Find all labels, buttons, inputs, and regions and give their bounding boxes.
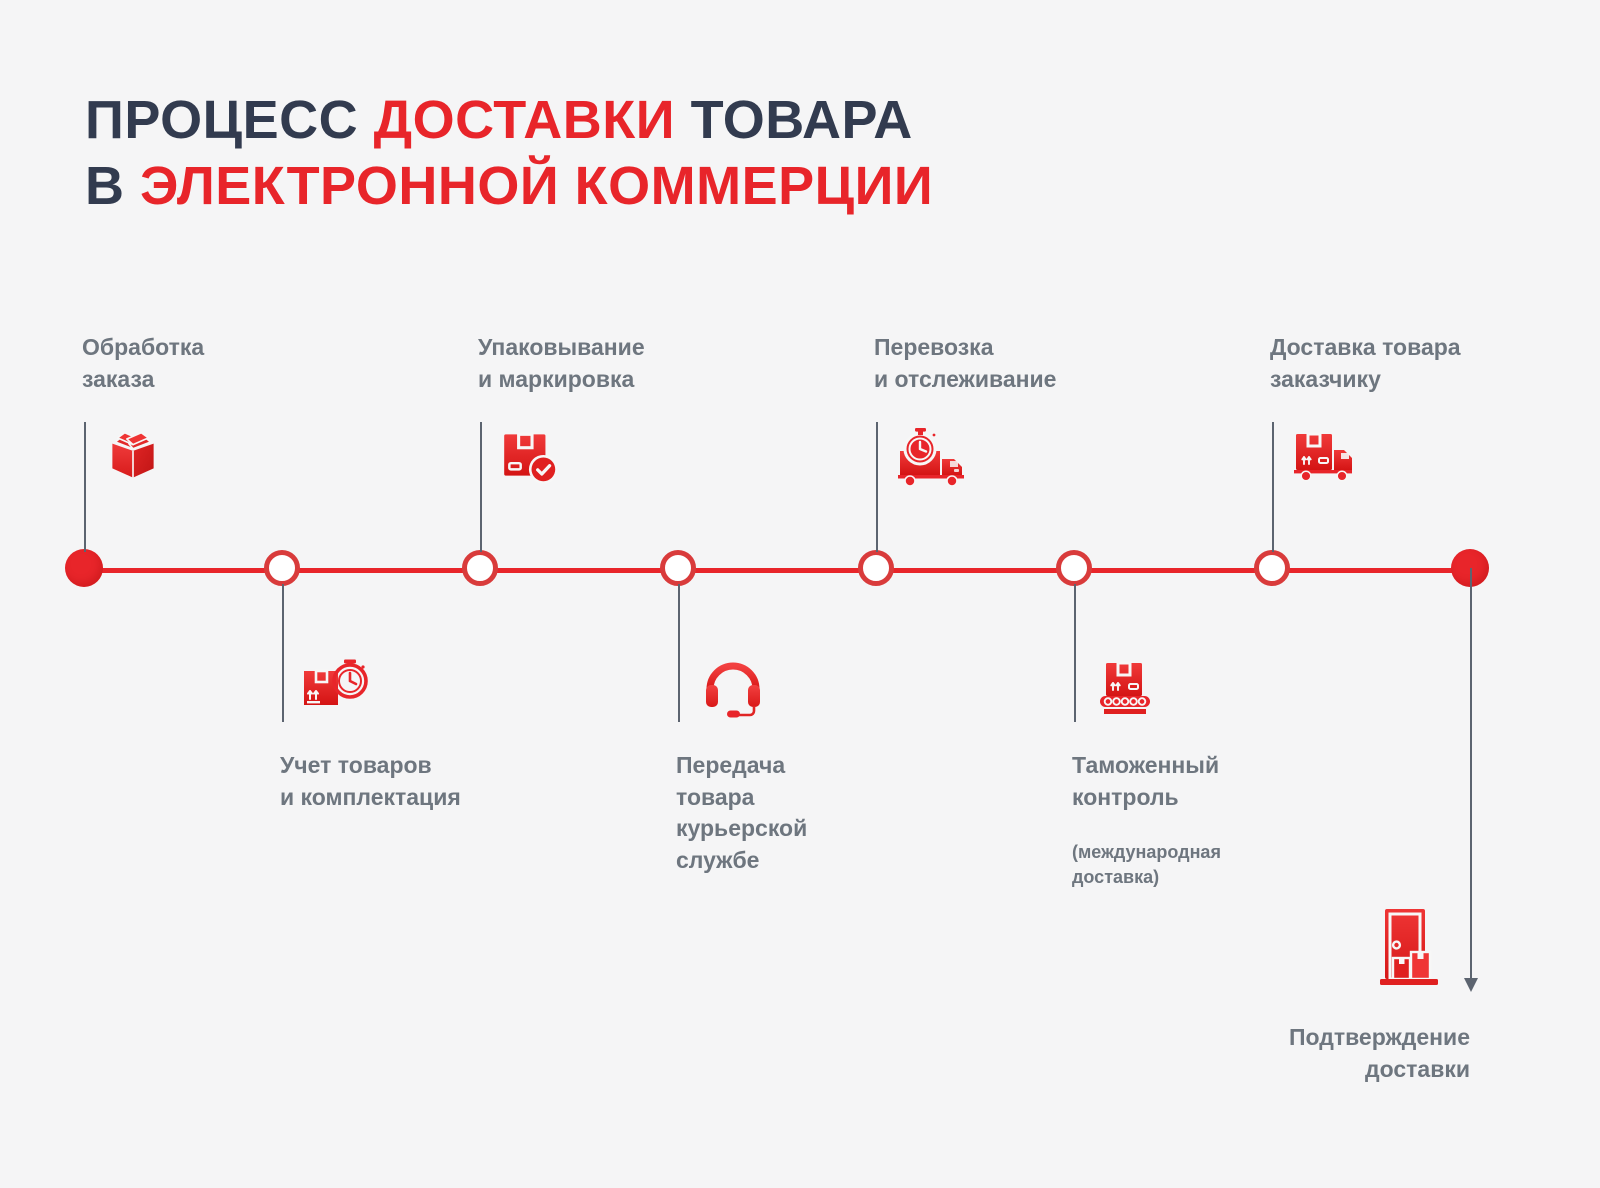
timeline-node-2[interactable] [264,550,300,586]
step-label-8: Подтверждение доставки [1080,1022,1470,1085]
timeline-node-4[interactable] [660,550,696,586]
step-label-4: Передача товара курьерской службе [676,750,976,877]
open-box-icon [100,424,166,490]
delivery-process-timeline: Обработка заказа [0,0,1600,1188]
timeline-stem-6 [1074,584,1076,722]
box-check-icon [498,424,564,490]
step-label-7: Доставка товара заказчику [1270,332,1600,395]
step-sublabel-6: (международная доставка) [1072,840,1372,890]
timeline-stem-8 [1470,568,1472,990]
headset-icon [700,655,766,719]
delivery-truck-icon [1292,428,1356,486]
timeline-node-3[interactable] [462,550,498,586]
step-label-2: Учет товаров и комплектация [280,750,620,813]
timeline-node-1[interactable] [65,549,103,587]
box-stopwatch-icon [298,655,378,719]
door-packages-icon [1375,905,1443,991]
timeline-stem-3 [480,422,482,552]
step-label-3: Упаковывание и маркировка [478,332,808,395]
step-label-6: Таможенный контроль [1072,750,1372,813]
step-label-5: Перевозка и отслеживание [874,332,1214,395]
conveyor-box-icon [1094,655,1156,719]
timeline-stem-1 [84,422,86,552]
timeline-node-5[interactable] [858,550,894,586]
timeline-node-6[interactable] [1056,550,1092,586]
timeline-stem-7 [1272,422,1274,552]
truck-clock-icon [896,424,968,490]
timeline-stem-2 [282,584,284,722]
timeline-stem-5 [876,422,878,552]
timeline-stem-4 [678,584,680,722]
step-label-1: Обработка заказа [82,332,412,395]
arrow-down-icon [1464,978,1478,992]
timeline-node-7[interactable] [1254,550,1290,586]
